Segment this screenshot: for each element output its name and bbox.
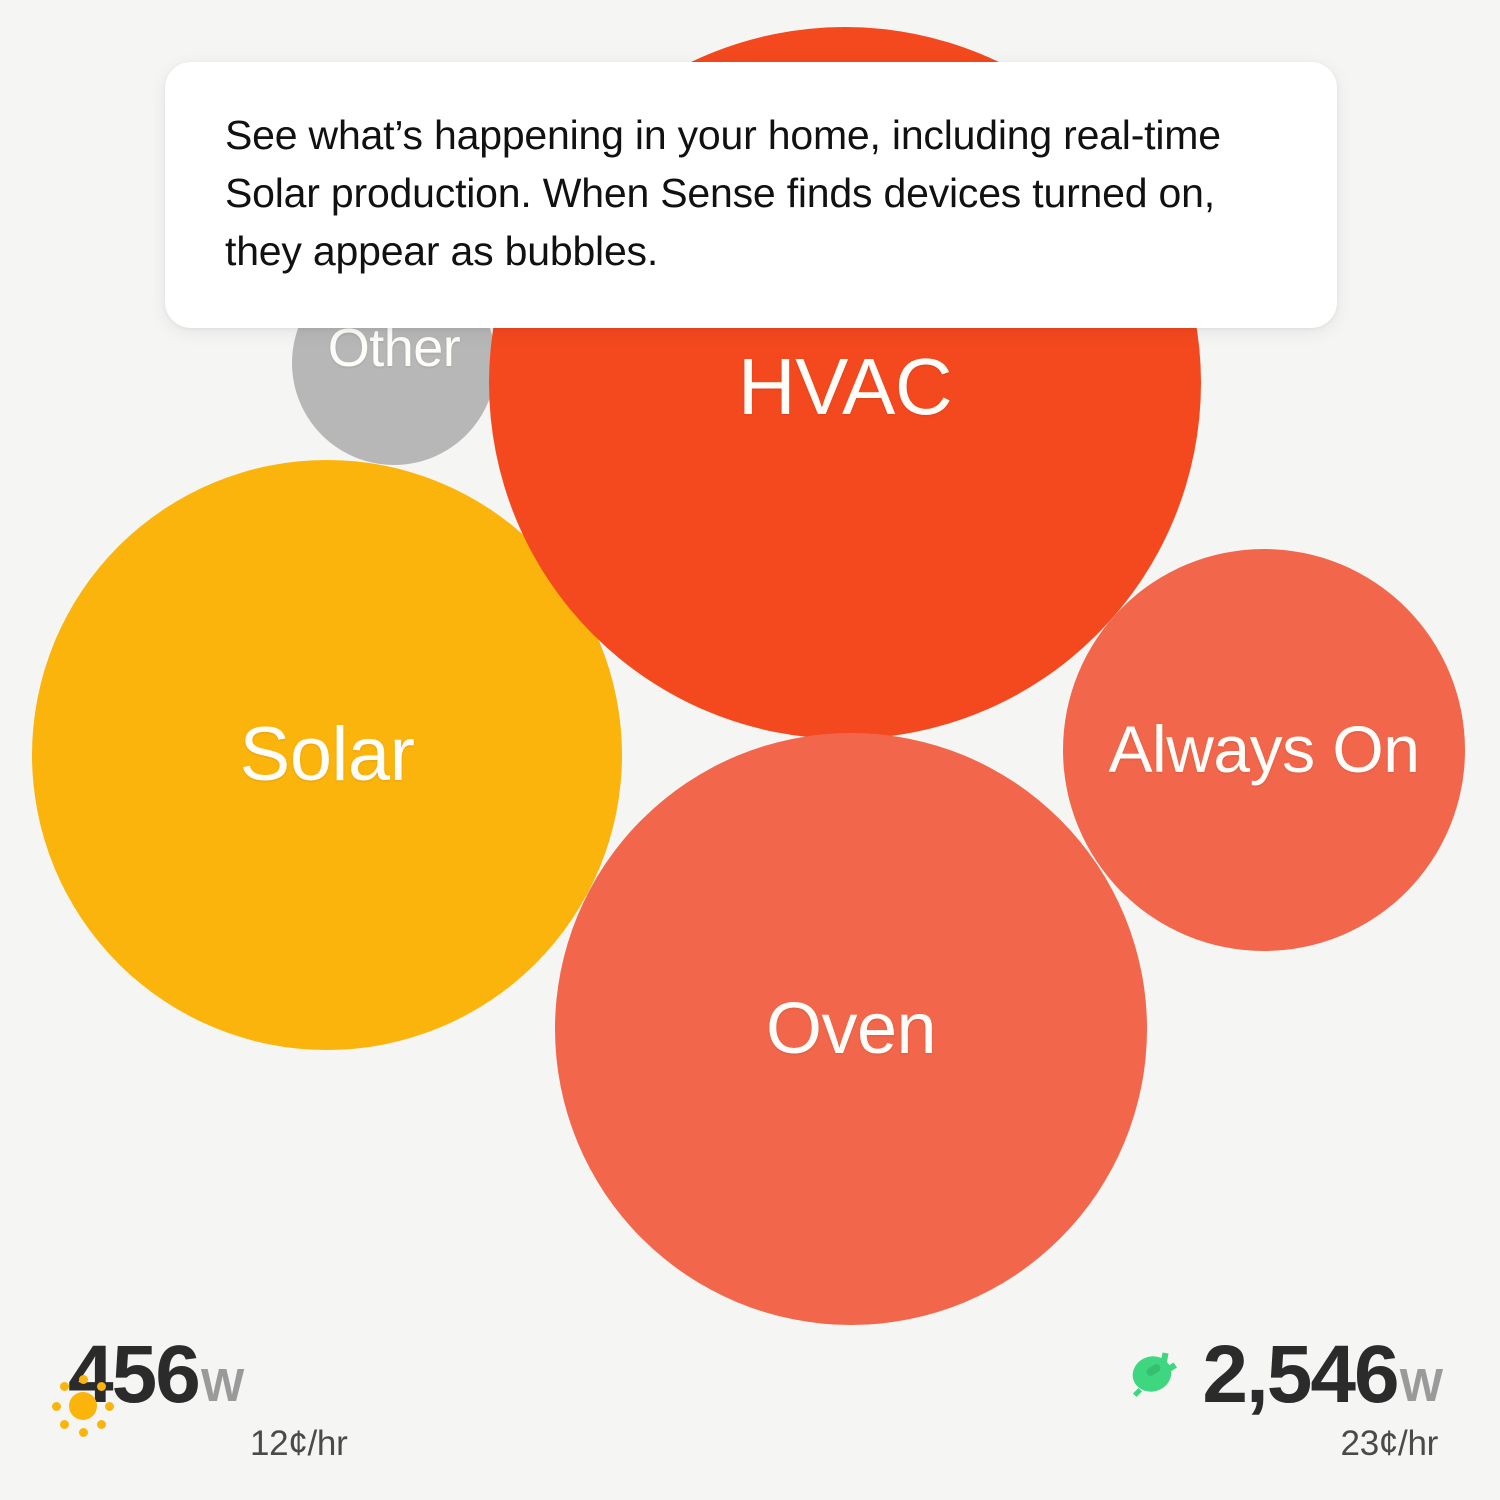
usage-watts-unit: W	[1400, 1362, 1442, 1414]
bubble-always-on[interactable]: Always On	[1063, 549, 1465, 951]
usage-watts-value: 2,546	[1202, 1336, 1397, 1414]
bubble-canvas: Other Solar Always On HVAC Oven See what…	[0, 0, 1500, 1500]
usage-stat[interactable]: 2,546 W 23¢/hr	[1126, 1336, 1442, 1464]
solar-rate: 12¢/hr	[250, 1424, 347, 1464]
onboarding-tooltip[interactable]: See what’s happening in your home, inclu…	[165, 62, 1337, 328]
solar-watts-unit: W	[201, 1362, 243, 1414]
bubble-oven-label: Oven	[760, 991, 942, 1067]
bubble-always-on-label: Always On	[1103, 715, 1426, 785]
bubble-other-label: Other	[322, 320, 467, 377]
tooltip-text: See what’s happening in your home, inclu…	[225, 106, 1285, 280]
usage-stat-main: 2,546 W	[1126, 1336, 1442, 1414]
bubble-hvac-label: HVAC	[732, 345, 958, 430]
plug-icon	[1126, 1344, 1186, 1407]
bubble-solar-label: Solar	[234, 715, 421, 796]
solar-stat[interactable]: 456 W 12¢/hr	[52, 1336, 347, 1464]
solar-stat-main: 456 W	[52, 1336, 243, 1414]
usage-rate: 23¢/hr	[1341, 1424, 1438, 1464]
bubble-oven[interactable]: Oven	[555, 733, 1147, 1325]
